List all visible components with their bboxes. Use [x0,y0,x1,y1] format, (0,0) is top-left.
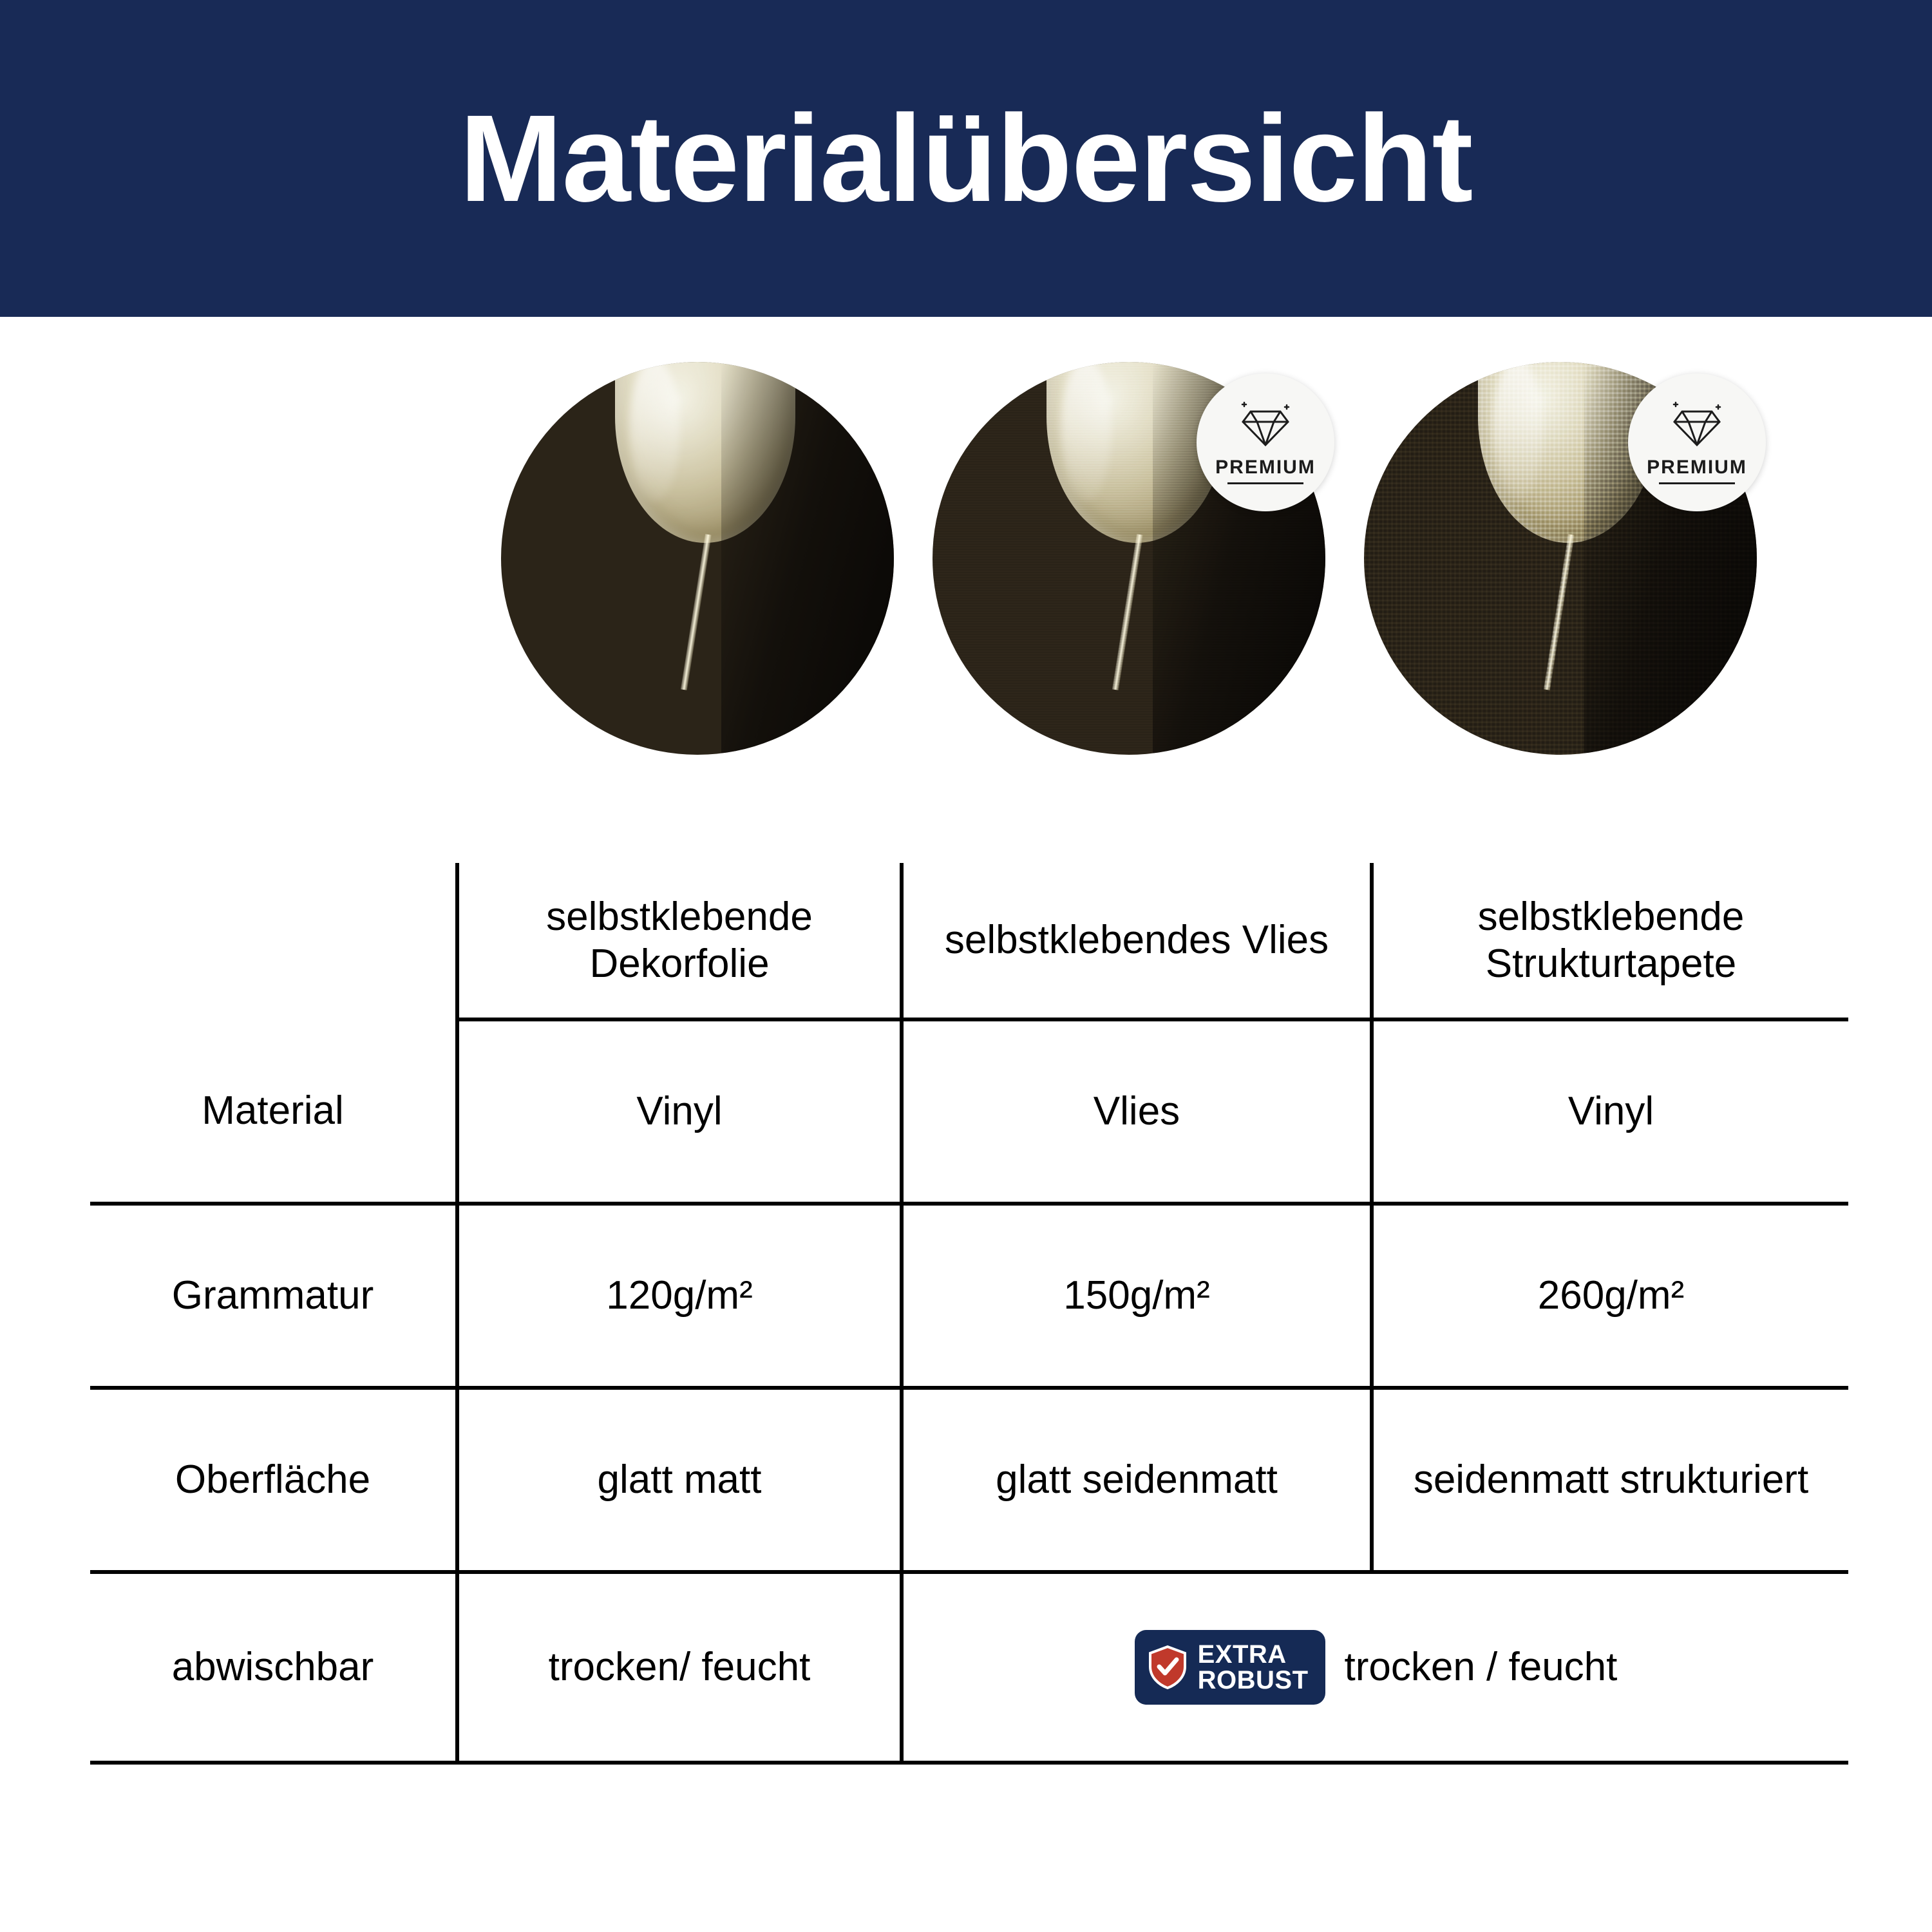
cell-grammatur-vlies: 150g/m² [902,1204,1372,1388]
row-label-grammatur: Grammatur [90,1204,457,1388]
premium-badge: PREMIUM [1197,374,1334,511]
page-header: Materialübersicht [0,0,1932,317]
sample-image-1 [501,362,894,755]
premium-badge: PREMIUM [1628,374,1766,511]
sample-vlies: PREMIUM [933,362,1325,755]
table-corner-cell [90,863,457,1019]
sample-strukturtapete: PREMIUM [1364,362,1757,755]
cell-abwischbar-vlies-struktur: EXTRA ROBUST trocken / feucht [902,1572,1848,1763]
cell-material-vlies: Vlies [902,1019,1372,1204]
table-row-oberflaeche: Oberfläche glatt matt glatt seidenmatt s… [90,1388,1848,1572]
extra-robust-line1: EXTRA [1198,1642,1287,1667]
material-overview-page: Materialübersicht [0,0,1932,1932]
premium-badge-label: PREMIUM [1647,457,1747,478]
cell-material-strukturtapete: Vinyl [1372,1019,1848,1204]
cell-oberflaeche-vlies: glatt seidenmatt [902,1388,1372,1572]
cell-grammatur-dekorfolie: 120g/m² [457,1204,902,1388]
row-label-abwischbar: abwischbar [90,1572,457,1763]
row-label-material: Material [90,1019,457,1204]
cell-abwischbar-dekorfolie: trocken/ feucht [457,1572,902,1763]
premium-badge-rule [1659,482,1735,484]
diamond-icon [1669,401,1725,450]
extra-robust-line2: ROBUST [1198,1667,1309,1693]
row-label-oberflaeche: Oberfläche [90,1388,457,1572]
table-row-abwischbar: abwischbar trocken/ feucht [90,1572,1848,1763]
table-row-material: Material Vinyl Vlies Vinyl [90,1019,1848,1204]
diamond-icon [1238,401,1293,450]
cell-oberflaeche-dekorfolie: glatt matt [457,1388,902,1572]
column-header-strukturtapete: selbstklebende Strukturtapete [1372,863,1848,1019]
column-header-vlies: selbstklebendes Vlies [902,863,1372,1019]
sample-dekorfolie [501,362,894,755]
cell-oberflaeche-strukturtapete: seidenmatt strukturiert [1372,1388,1848,1572]
extra-robust-badge: EXTRA ROBUST [1135,1630,1325,1705]
material-comparison-table: selbstklebende Dekorfolie selbstklebende… [90,863,1848,1765]
table-row-grammatur: Grammatur 120g/m² 150g/m² 260g/m² [90,1204,1848,1388]
column-header-dekorfolie: selbstklebende Dekorfolie [457,863,902,1019]
premium-badge-label: PREMIUM [1215,457,1316,478]
cell-abwischbar-text: trocken / feucht [1345,1643,1618,1690]
premium-badge-rule [1227,482,1303,484]
photo-shadow [721,362,894,755]
page-title: Materialübersicht [460,97,1473,220]
table-header-row: selbstklebende Dekorfolie selbstklebende… [90,863,1848,1019]
cell-material-dekorfolie: Vinyl [457,1019,902,1204]
shield-check-icon [1148,1645,1188,1690]
sample-images-row: PREMIUM [0,355,1932,793]
cell-grammatur-strukturtapete: 260g/m² [1372,1204,1848,1388]
